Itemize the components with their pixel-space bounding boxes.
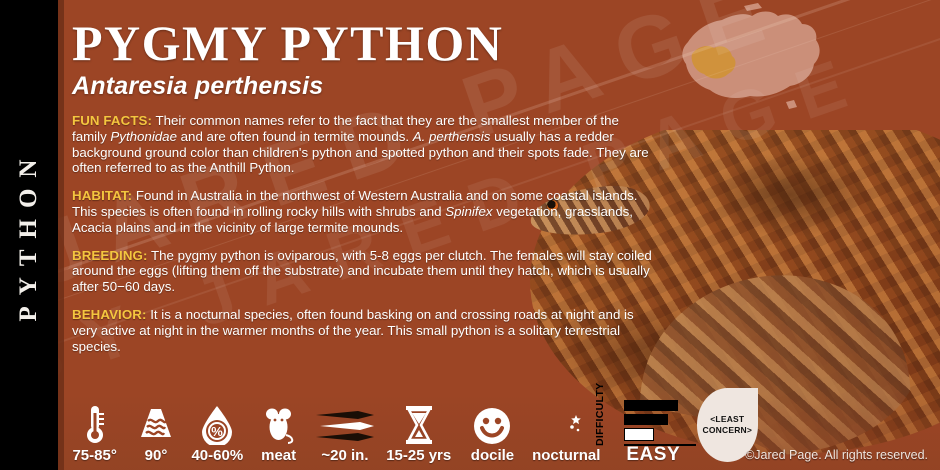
care-item-basking: 90° [125, 405, 186, 464]
thermometer-icon [82, 405, 108, 445]
difficulty-bar [624, 414, 668, 425]
svg-text:%: % [212, 424, 224, 439]
scientific-name: Antaresia perthensis [72, 72, 652, 101]
difficulty-meter: DIFFICULTY EASY [608, 400, 684, 464]
care-item-humidity: % 40-60% [187, 405, 248, 464]
moon-stars-icon [547, 405, 585, 445]
care-label-size: ~20 in. [321, 447, 368, 464]
page-title: PYGMY PYTHON [72, 18, 652, 68]
care-item-lifespan: 15-25 yrs [381, 405, 457, 464]
size-arrows-icon [314, 405, 376, 445]
section-body-fun-facts: Their common names refer to the fact tha… [72, 113, 649, 175]
spine-label: PYTHON [15, 149, 43, 322]
section-breeding: BREEDING: The pygmy python is oviparous,… [72, 248, 652, 295]
care-label-basking: 90° [145, 447, 168, 464]
map-islands-north [744, 3, 762, 11]
section-lead-fun-facts: FUN FACTS: [72, 113, 152, 128]
map-tasmania [786, 100, 797, 109]
difficulty-bars [624, 400, 696, 444]
humidity-droplet-icon: % [200, 405, 234, 445]
section-lead-breeding: BREEDING: [72, 248, 148, 263]
section-body-behavior: It is a nocturnal species, often found b… [72, 307, 634, 354]
basking-lamp-icon [136, 405, 176, 445]
smiley-face-icon [473, 405, 511, 445]
care-label-humidity: 40-60% [191, 447, 243, 464]
care-label-lifespan: 15-25 yrs [386, 447, 451, 464]
care-icon-row: 75-85° 90° % [58, 396, 758, 464]
mouse-icon [262, 405, 296, 445]
category-spine: PYTHON [0, 0, 58, 470]
section-body-habitat: Found in Australia in the northwest of W… [72, 188, 637, 235]
difficulty-level: EASY [626, 444, 680, 466]
section-behavior: BEHAVIOR: It is a nocturnal species, oft… [72, 307, 652, 354]
conservation-status-text: <LEASTCONCERN> [703, 414, 753, 436]
care-item-temperament: docile [457, 405, 528, 464]
range-map [652, 0, 852, 116]
care-label-activity: nocturnal [532, 447, 600, 464]
care-label-temperature: 75-85° [72, 447, 116, 464]
difficulty-bar-active [624, 428, 654, 441]
care-item-activity: nocturnal [528, 405, 604, 464]
section-lead-behavior: BEHAVIOR: [72, 307, 147, 322]
difficulty-axis-label: DIFFICULTY [594, 383, 606, 446]
section-habitat: HABITAT: Found in Australia in the north… [72, 188, 652, 235]
copyright-notice: ©Jared Page. All rights reserved. [745, 448, 928, 462]
care-item-diet: meat [248, 405, 309, 464]
care-item-temperature: 75-85° [64, 405, 125, 464]
species-care-card: JARED PAGE BY JARED PAGE PYTHON PYGMY PY… [0, 0, 940, 470]
section-lead-habitat: HABITAT: [72, 188, 132, 203]
section-body-breeding: The pygmy python is oviparous, with 5-8 … [72, 248, 652, 295]
care-label-temperament: docile [471, 447, 514, 464]
section-fun-facts: FUN FACTS: Their common names refer to t… [72, 113, 652, 176]
hourglass-icon [402, 405, 436, 445]
difficulty-bar [624, 400, 678, 411]
care-label-diet: meat [261, 447, 296, 464]
care-item-size: ~20 in. [309, 405, 380, 464]
content-column: PYGMY PYTHON Antaresia perthensis FUN FA… [72, 0, 652, 354]
